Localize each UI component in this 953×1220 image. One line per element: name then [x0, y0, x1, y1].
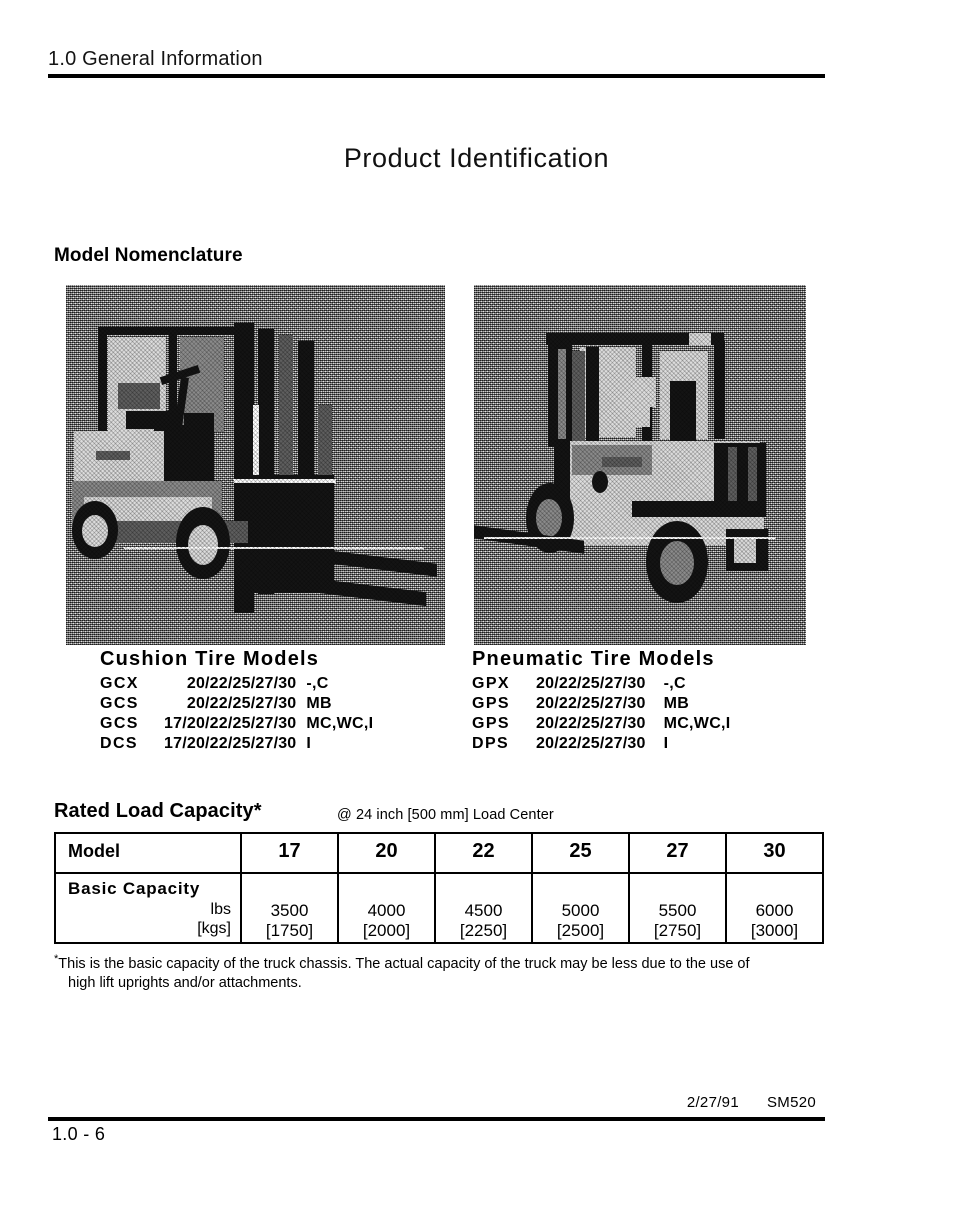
- table-row: GCS 20/22/25/27/30 MB: [100, 695, 373, 715]
- model-sizes: 20/22/25/27/30: [164, 695, 306, 715]
- footer-meta: 2/27/91SM520: [687, 1094, 816, 1111]
- table-row: GCX 20/22/25/27/30 -,C: [100, 675, 373, 695]
- basic-capacity-label-cell: Basic Capacity lbs [kgs]: [55, 873, 241, 943]
- table-row: GPS 20/22/25/27/30 MC,WC,I: [472, 715, 731, 735]
- capacity-cell: 5000 [2500]: [532, 873, 629, 943]
- model-suffix: MB: [306, 695, 373, 715]
- model-sizes: 20/22/25/27/30: [536, 735, 656, 755]
- capacity-cell: 3500 [1750]: [241, 873, 338, 943]
- model-suffix: I: [306, 735, 373, 755]
- model-sizes: 20/22/25/27/30: [536, 675, 656, 695]
- capacity-kgs: [1750]: [242, 921, 337, 941]
- model-cell: 20: [338, 833, 435, 873]
- pneumatic-tire-models-title: Pneumatic Tire Models: [472, 648, 731, 671]
- cushion-tire-models-table: GCX 20/22/25/27/30 -,C GCS 20/22/25/27/3…: [100, 675, 373, 755]
- capacity-lbs: 5000: [533, 901, 628, 921]
- capacity-footnote: *This is the basic capacity of the truck…: [54, 950, 814, 993]
- model-cell: 30: [726, 833, 823, 873]
- table-row: DPS 20/22/25/27/30 I: [472, 735, 731, 755]
- capacity-kgs: [2000]: [339, 921, 434, 941]
- rated-load-capacity-heading: Rated Load Capacity*: [54, 800, 262, 823]
- model-suffix: MB: [656, 695, 731, 715]
- load-center-note: @ 24 inch [500 mm] Load Center: [337, 807, 554, 823]
- page-header: 1.0 General Information: [48, 48, 825, 78]
- capacity-cell: 6000 [3000]: [726, 873, 823, 943]
- pneumatic-tire-forklift-photo: [474, 285, 806, 645]
- table-row: GCS 17/20/22/25/27/30 MC,WC,I: [100, 715, 373, 735]
- unit-lbs: lbs: [197, 900, 231, 919]
- pneumatic-tire-models-block: Pneumatic Tire Models GPX 20/22/25/27/30…: [472, 648, 731, 755]
- cushion-tire-models-block: Cushion Tire Models GCX 20/22/25/27/30 -…: [100, 648, 373, 755]
- model-sizes: 20/22/25/27/30: [536, 695, 656, 715]
- capacity-cell: 5500 [2750]: [629, 873, 726, 943]
- capacity-cell: 4000 [2000]: [338, 873, 435, 943]
- capacity-kgs: [2500]: [533, 921, 628, 941]
- model-prefix: GCX: [100, 675, 164, 695]
- model-cell: 22: [435, 833, 532, 873]
- table-row: GPS 20/22/25/27/30 MB: [472, 695, 731, 715]
- rated-load-capacity-table: Model 17 20 22 25 27 30 Basic Capacity l…: [54, 832, 824, 944]
- model-prefix: GPS: [472, 695, 536, 715]
- model-suffix: -,C: [306, 675, 373, 695]
- model-row-label-cell: Model: [55, 833, 241, 873]
- capacity-lbs: 5500: [630, 901, 725, 921]
- model-row-label: Model: [56, 834, 240, 862]
- header-divider: [48, 74, 825, 78]
- cushion-tire-forklift-photo: [66, 285, 445, 645]
- model-prefix: GCS: [100, 695, 164, 715]
- model-sizes: 17/20/22/25/27/30: [164, 735, 306, 755]
- model-nomenclature-heading: Model Nomenclature: [54, 245, 243, 267]
- table-row: DCS 17/20/22/25/27/30 I: [100, 735, 373, 755]
- model-value: 27: [630, 834, 725, 863]
- section-label: 1.0 General Information: [48, 48, 825, 74]
- unit-kgs: [kgs]: [197, 919, 231, 938]
- model-prefix: DPS: [472, 735, 536, 755]
- document-code: SM520: [767, 1094, 816, 1111]
- capacity-lbs: 4500: [436, 901, 531, 921]
- pneumatic-tire-models-table: GPX 20/22/25/27/30 -,C GPS 20/22/25/27/3…: [472, 675, 731, 755]
- model-suffix: I: [656, 735, 731, 755]
- table-row-basic-capacity: Basic Capacity lbs [kgs] 3500 [1750] 400…: [55, 873, 823, 943]
- model-value: 20: [339, 834, 434, 863]
- page-title: Product Identification: [0, 143, 953, 174]
- model-prefix: GCS: [100, 715, 164, 735]
- model-sizes: 17/20/22/25/27/30: [164, 715, 306, 735]
- basic-capacity-label: Basic Capacity: [56, 874, 240, 899]
- capacity-kgs: [3000]: [727, 921, 822, 941]
- model-value: 17: [242, 834, 337, 863]
- model-value: 30: [727, 834, 822, 863]
- cushion-tire-models-title: Cushion Tire Models: [100, 648, 373, 671]
- model-suffix: MC,WC,I: [656, 715, 731, 735]
- page-number: 1.0 - 6: [52, 1124, 105, 1145]
- capacity-lbs: 4000: [339, 901, 434, 921]
- capacity-units: lbs [kgs]: [197, 900, 231, 938]
- revision-date: 2/27/91: [687, 1094, 739, 1111]
- capacity-lbs: 3500: [242, 901, 337, 921]
- capacity-kgs: [2750]: [630, 921, 725, 941]
- model-suffix: -,C: [656, 675, 731, 695]
- footnote-line-1: This is the basic capacity of the truck …: [58, 956, 749, 972]
- model-suffix: MC,WC,I: [306, 715, 373, 735]
- footnote-line-2: high lift uprights and/or attachments.: [54, 974, 814, 993]
- model-prefix: GPX: [472, 675, 536, 695]
- model-cell: 25: [532, 833, 629, 873]
- model-cell: 17: [241, 833, 338, 873]
- capacity-cell: 4500 [2250]: [435, 873, 532, 943]
- model-prefix: DCS: [100, 735, 164, 755]
- capacity-lbs: 6000: [727, 901, 822, 921]
- model-value: 22: [436, 834, 531, 863]
- table-row-model: Model 17 20 22 25 27 30: [55, 833, 823, 873]
- table-row: GPX 20/22/25/27/30 -,C: [472, 675, 731, 695]
- model-value: 25: [533, 834, 628, 863]
- footer-divider: [48, 1117, 825, 1121]
- model-prefix: GPS: [472, 715, 536, 735]
- model-cell: 27: [629, 833, 726, 873]
- model-sizes: 20/22/25/27/30: [164, 675, 306, 695]
- model-sizes: 20/22/25/27/30: [536, 715, 656, 735]
- capacity-kgs: [2250]: [436, 921, 531, 941]
